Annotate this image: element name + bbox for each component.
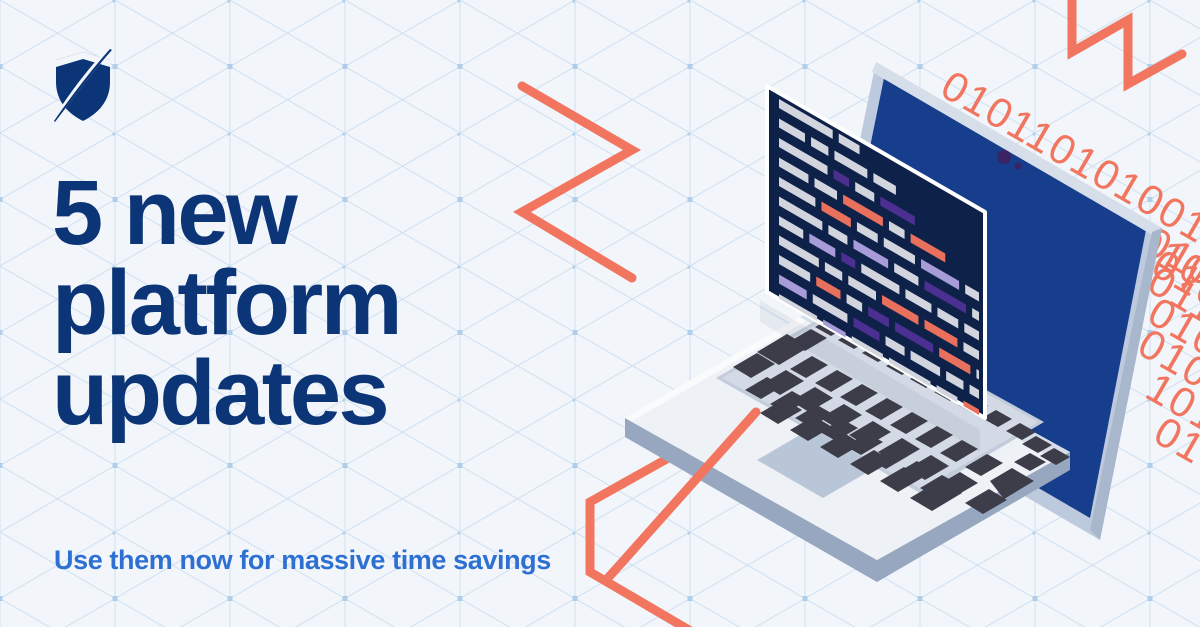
code-token bbox=[818, 356, 844, 380]
code-token bbox=[994, 321, 1025, 348]
page-title: 5 new platform updates bbox=[52, 168, 572, 438]
code-token bbox=[779, 372, 815, 402]
code-token bbox=[821, 397, 842, 418]
code-token bbox=[808, 369, 839, 396]
subtitle: Use them now for massive time savings bbox=[54, 545, 551, 576]
code-token bbox=[833, 345, 862, 371]
code-token bbox=[779, 333, 812, 361]
content-block: 5 new platform updates Use them now for … bbox=[52, 0, 612, 627]
headline-line-1: 5 new bbox=[52, 168, 572, 258]
code-token bbox=[845, 391, 869, 414]
code-token bbox=[909, 389, 932, 411]
headline-line-2: platform bbox=[52, 258, 572, 348]
code-token bbox=[779, 353, 802, 375]
code-token bbox=[811, 332, 827, 350]
shield-swoosh-logo bbox=[52, 48, 114, 124]
code-token bbox=[850, 374, 888, 405]
marketing-banner: 01011010100101010101010 0101010100101010… bbox=[0, 0, 1200, 627]
headline-line-3: updates bbox=[52, 348, 572, 438]
code-token bbox=[894, 400, 911, 419]
code-token bbox=[779, 314, 805, 338]
code-token bbox=[1005, 347, 1028, 369]
code-token bbox=[989, 357, 1013, 380]
